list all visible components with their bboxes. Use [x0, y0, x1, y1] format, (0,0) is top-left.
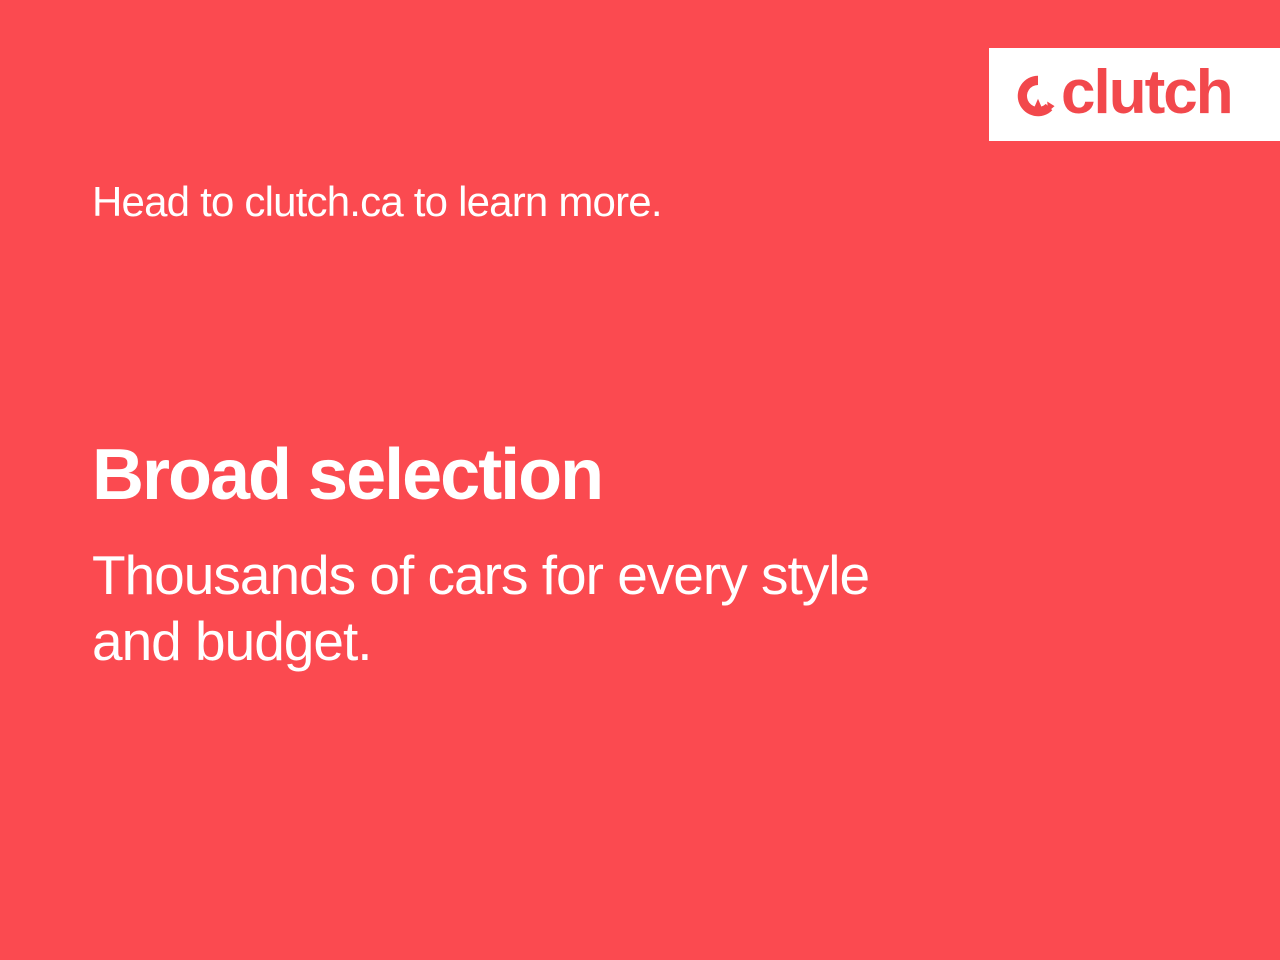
subhead-line-1: Thousands of cars for every style — [92, 542, 1052, 608]
subhead-line-2: and budget. — [92, 608, 1052, 674]
subhead-block: Thousands of cars for every style and bu… — [92, 542, 1052, 674]
clutch-logo-lockup[interactable]: clutch — [1015, 64, 1232, 126]
brand-logo-plate[interactable]: clutch — [989, 48, 1280, 141]
slide-canvas: clutch Head to clutch.ca to learn more. … — [0, 0, 1280, 960]
clutch-c-mark-icon — [1015, 73, 1061, 119]
page-title: Broad selection — [92, 436, 602, 515]
kicker-text: Head to clutch.ca to learn more. — [92, 178, 662, 226]
clutch-wordmark: clutch — [1061, 62, 1232, 124]
